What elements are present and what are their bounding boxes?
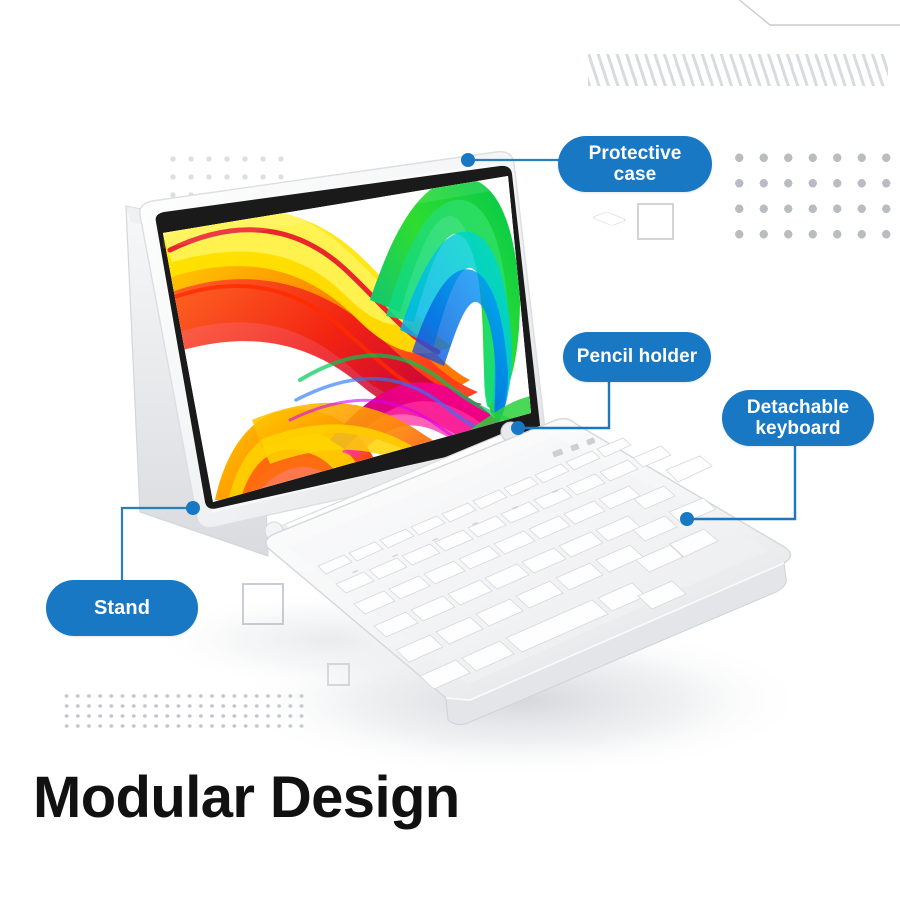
callout-marker-pencil-holder[interactable] [511,421,525,435]
callout-marker-protective-case[interactable] [461,153,475,167]
product-feature-graphic: Protective case Pencil holder Detachable… [0,0,900,900]
callout-label-line1: Stand [94,597,150,619]
callout-label-protective-case[interactable]: Protective case [558,136,712,192]
callout-label-line2: keyboard [755,418,840,439]
callout-marker-stand[interactable] [186,501,200,515]
callout-label-line2: case [614,164,657,185]
callout-label-stand[interactable]: Stand [46,580,198,636]
callout-label-detachable-keyboard[interactable]: Detachable keyboard [722,390,874,446]
callout-label-line1: Protective [589,143,682,164]
page-title: Modular Design [33,764,460,831]
callout-marker-detachable-keyboard[interactable] [680,512,694,526]
callout-label-pencil-holder[interactable]: Pencil holder [563,332,711,382]
callout-label-line1: Detachable [747,397,849,418]
callout-label-line1: Pencil holder [577,346,698,367]
